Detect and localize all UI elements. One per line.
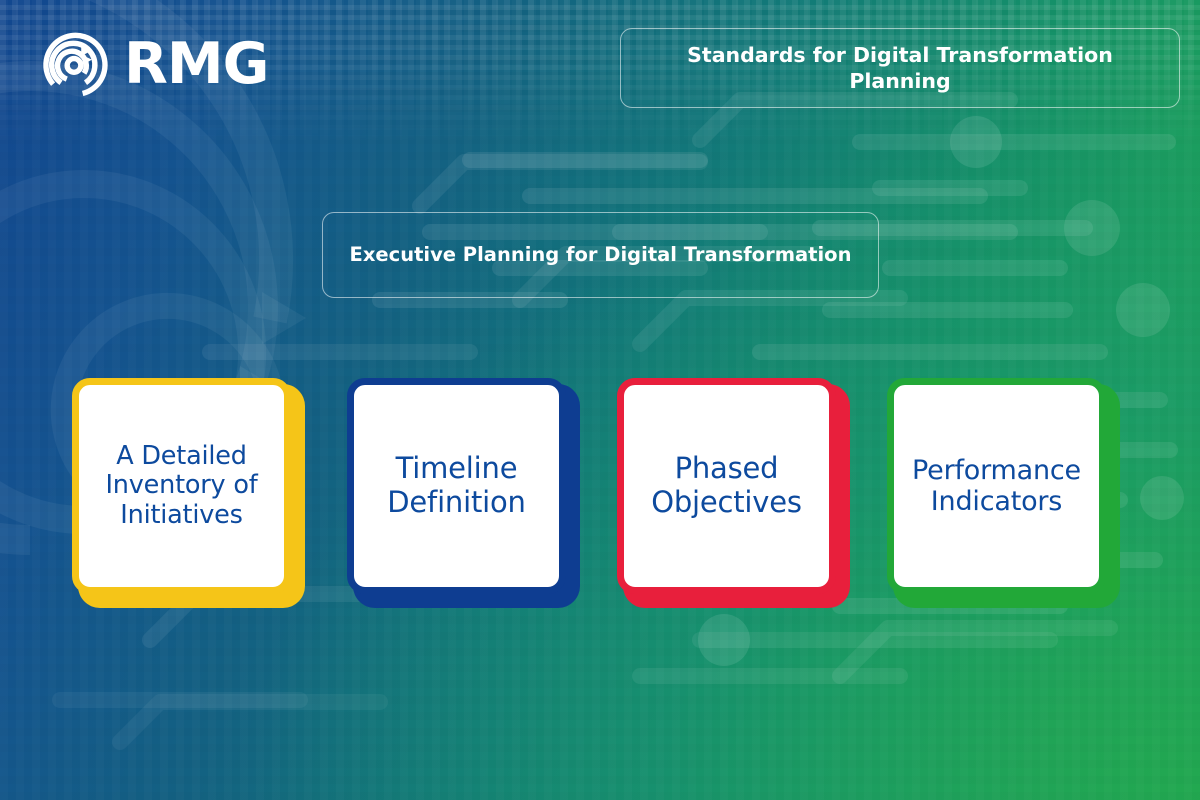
card-label: Phased Objectives <box>636 452 817 519</box>
card-row: A Detailed Inventory of Initiatives Time… <box>0 0 1200 800</box>
card-label: Performance Indicators <box>906 455 1087 518</box>
card-phased-objectives[interactable]: Phased Objectives <box>617 378 850 608</box>
infographic-slide: RMG Standards for Digital Transformation… <box>0 0 1200 800</box>
card-panel: Timeline Definition <box>347 378 566 594</box>
card-label: A Detailed Inventory of Initiatives <box>91 442 272 531</box>
card-panel: Performance Indicators <box>887 378 1106 594</box>
card-performance-indicators[interactable]: Performance Indicators <box>887 378 1120 608</box>
card-label: Timeline Definition <box>366 452 547 519</box>
card-timeline-definition[interactable]: Timeline Definition <box>347 378 580 608</box>
card-detailed-inventory[interactable]: A Detailed Inventory of Initiatives <box>72 378 305 608</box>
card-panel: A Detailed Inventory of Initiatives <box>72 378 291 594</box>
card-panel: Phased Objectives <box>617 378 836 594</box>
